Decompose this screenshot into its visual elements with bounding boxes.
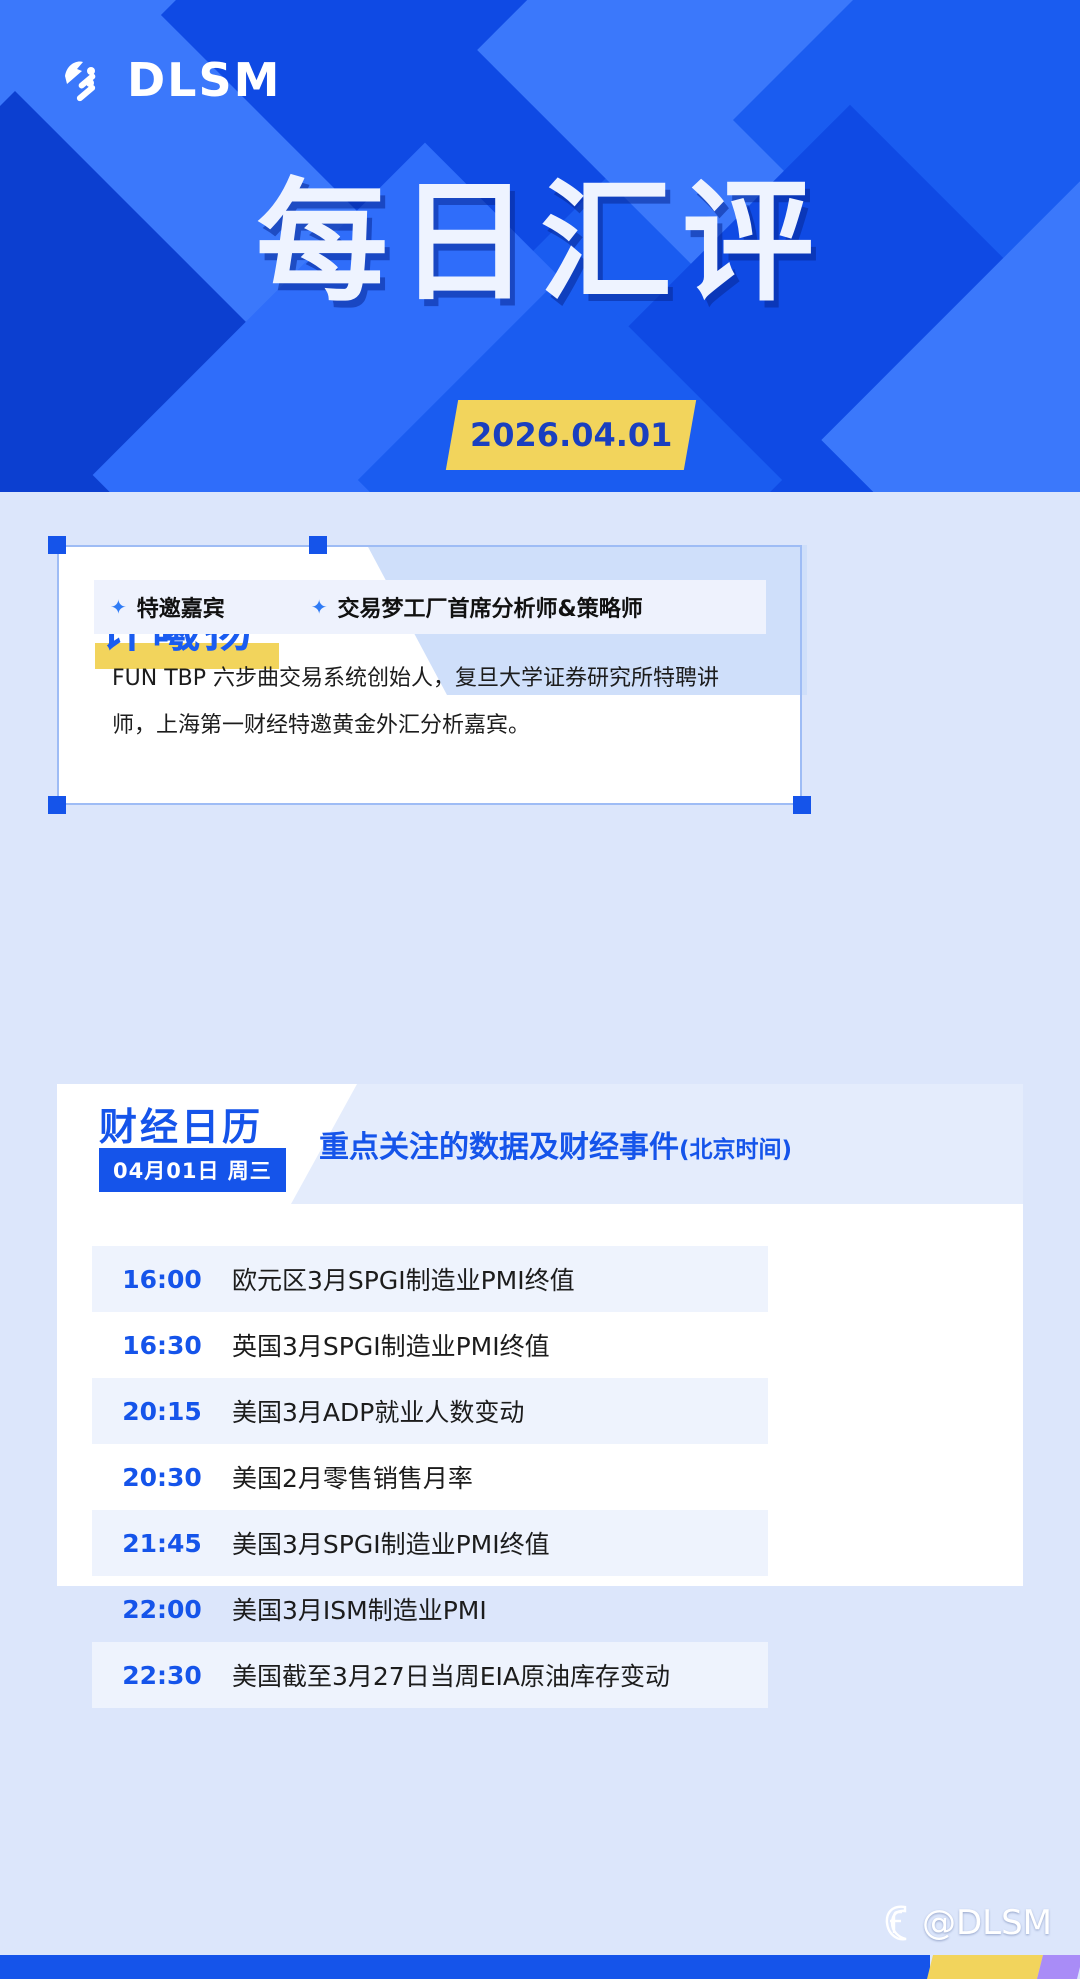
dlsm-mark-icon (57, 52, 113, 108)
guest-tags-bar: ✦ 特邀嘉宾 ✦ 交易梦工厂首席分析师&策略师 (94, 580, 766, 634)
event-name: 欧元区3月SPGI制造业PMI终值 (232, 1261, 575, 1297)
calendar-subtitle-main: 重点关注的数据及财经事件 (319, 1130, 679, 1165)
event-name: 美国3月ISM制造业PMI (232, 1591, 487, 1627)
calendar-event-row: 22:00美国3月ISM制造业PMI (92, 1576, 768, 1642)
hero-date-badge: 2026.04.01 (446, 400, 696, 470)
calendar-header: 财经日历 04月01日 周三 重点关注的数据及财经事件(北京时间) (57, 1084, 1023, 1204)
f-logo-icon (880, 1903, 914, 1943)
calendar-event-row: 16:30英国3月SPGI制造业PMI终值 (92, 1312, 768, 1378)
guest-tag-1-label: 特邀嘉宾 (137, 591, 225, 623)
guest-tag-2: ✦ 交易梦工厂首席分析师&策略师 (311, 591, 643, 623)
bottom-bar-yellow (927, 1955, 1043, 1979)
event-name: 美国3月ADP就业人数变动 (232, 1393, 524, 1429)
watermark: @DLSM (880, 1903, 1052, 1943)
event-name: 美国截至3月27日当周EIA原油库存变动 (232, 1657, 670, 1693)
calendar-subtitle-note: (北京时间) (679, 1137, 792, 1163)
brand-logo: DLSM (57, 52, 281, 108)
corner-marker-bottom-left (48, 796, 66, 814)
event-time: 16:00 (92, 1265, 232, 1294)
event-name: 美国2月零售销售月率 (232, 1459, 473, 1495)
corner-marker-top-left (48, 536, 66, 554)
watermark-text: @DLSM (922, 1903, 1052, 1943)
event-time: 20:15 (92, 1397, 232, 1426)
event-time: 22:00 (92, 1595, 232, 1624)
event-name: 英国3月SPGI制造业PMI终值 (232, 1327, 550, 1363)
event-time: 21:45 (92, 1529, 232, 1558)
calendar-event-row: 20:15美国3月ADP就业人数变动 (92, 1378, 768, 1444)
calendar-title: 财经日历 (99, 1096, 263, 1151)
calendar-event-list: 16:00欧元区3月SPGI制造业PMI终值16:30英国3月SPGI制造业PM… (92, 1246, 768, 1708)
event-name: 美国3月SPGI制造业PMI终值 (232, 1525, 550, 1561)
calendar-event-row: 16:00欧元区3月SPGI制造业PMI终值 (92, 1246, 768, 1312)
bottom-bar-blue (0, 1955, 930, 1979)
sparkle-icon: ✦ (110, 595, 127, 619)
corner-marker-bottom-right (793, 796, 811, 814)
bottom-color-bar (0, 1955, 1080, 1979)
guest-tag-2-label: 交易梦工厂首席分析师&策略师 (338, 591, 643, 623)
sparkle-icon: ✦ (311, 595, 328, 619)
corner-marker-top-right (309, 536, 327, 554)
event-time: 16:30 (92, 1331, 232, 1360)
hero-date-text: 2026.04.01 (470, 416, 672, 454)
calendar-event-row: 20:30美国2月零售销售月率 (92, 1444, 768, 1510)
calendar-subtitle: 重点关注的数据及财经事件(北京时间) (319, 1122, 792, 1166)
calendar-event-row: 21:45美国3月SPGI制造业PMI终值 (92, 1510, 768, 1576)
guest-bio: FUN TBP 六步曲交易系统创始人，复旦大学证券研究所特聘讲师，上海第一财经特… (112, 655, 752, 749)
guest-tag-1: ✦ 特邀嘉宾 (110, 591, 225, 623)
page-title: 每日汇评 (0, 136, 1080, 327)
event-time: 22:30 (92, 1661, 232, 1690)
calendar-event-row: 22:30美国截至3月27日当周EIA原油库存变动 (92, 1642, 768, 1708)
calendar-date-badge: 04月01日 周三 (99, 1148, 286, 1192)
bottom-bar-purple (1037, 1955, 1080, 1979)
brand-logo-text: DLSM (127, 53, 281, 107)
event-time: 20:30 (92, 1463, 232, 1492)
